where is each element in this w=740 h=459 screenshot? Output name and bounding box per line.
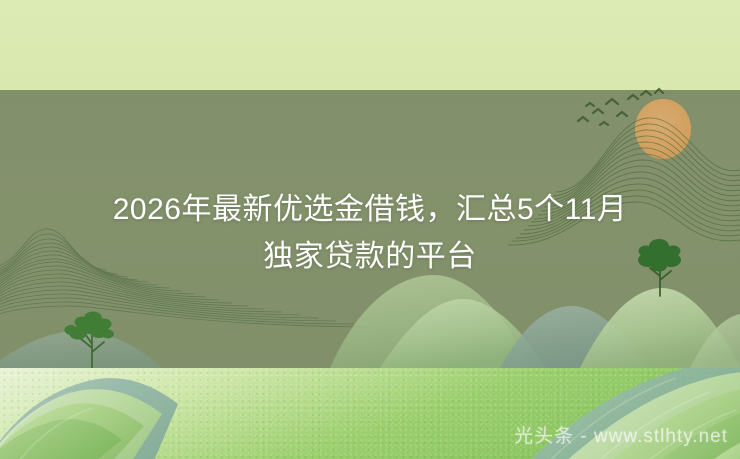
page-title-line-1: 2026年最新优选金借钱，汇总5个11月 — [0, 186, 740, 233]
page-title-line-2: 独家贷款的平台 — [0, 233, 740, 280]
site-watermark: 光头条 - www.stlhty.net — [514, 421, 728, 448]
sky-band — [0, 0, 740, 90]
page-title: 2026年最新优选金借钱，汇总5个11月 独家贷款的平台 — [0, 186, 740, 280]
cover-image: 2026年最新优选金借钱，汇总5个11月 独家贷款的平台 光头条 - www.s… — [0, 0, 740, 459]
sun-icon — [635, 99, 691, 159]
